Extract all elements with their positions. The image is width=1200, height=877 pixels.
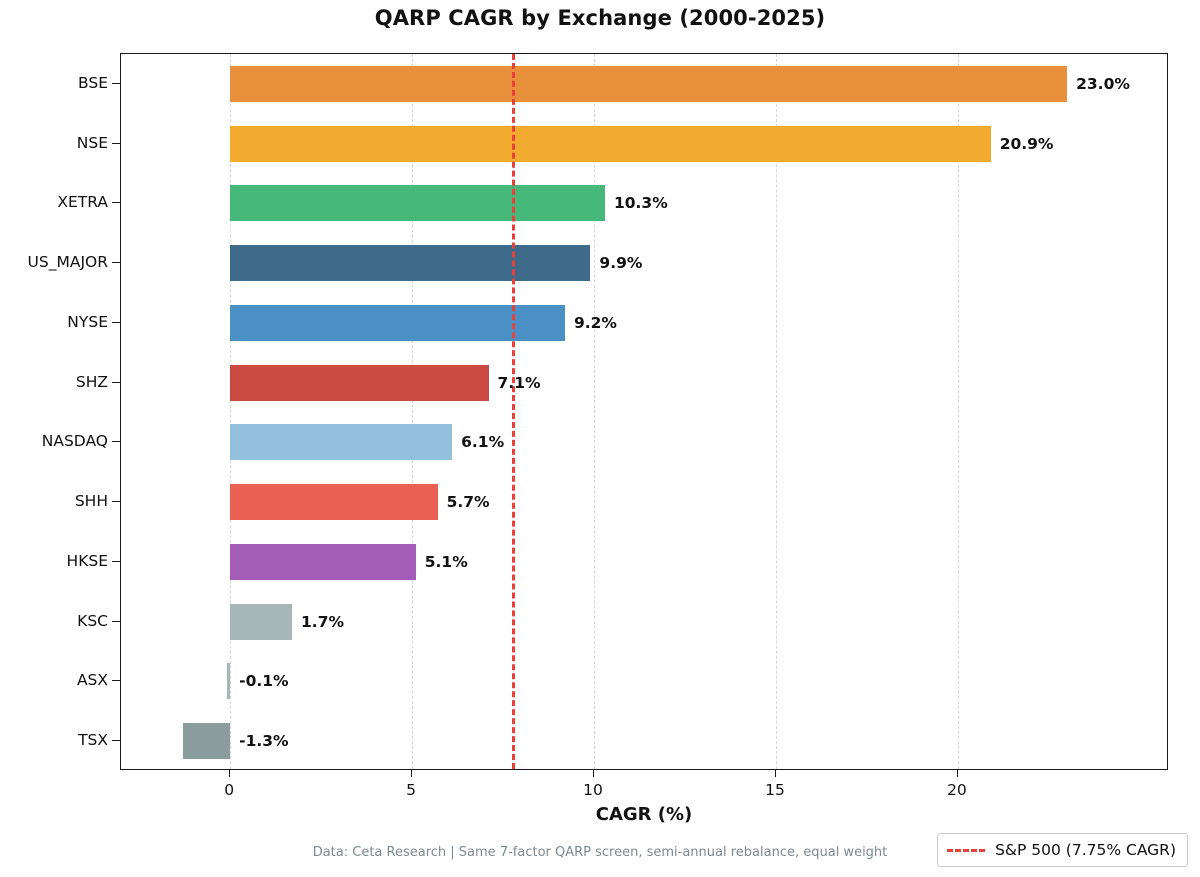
bar[interactable] bbox=[183, 723, 230, 759]
x-tick-mark bbox=[411, 770, 412, 777]
bar-value-label: 1.7% bbox=[301, 613, 344, 631]
bar-value-label: 7.1% bbox=[498, 374, 541, 392]
x-tick-mark bbox=[957, 770, 958, 777]
bar[interactable] bbox=[230, 424, 452, 460]
bar-value-label: 6.1% bbox=[461, 433, 504, 451]
x-tick-label-5: 5 bbox=[406, 781, 416, 799]
x-axis-label: CAGR (%) bbox=[120, 804, 1168, 825]
bar-value-label: 20.9% bbox=[1000, 135, 1054, 153]
bar-value-label: -0.1% bbox=[239, 672, 288, 690]
bar-value-label: 23.0% bbox=[1076, 75, 1130, 93]
x-tick-label-10: 10 bbox=[583, 781, 603, 799]
bar[interactable] bbox=[227, 663, 231, 699]
x-tick-label-20: 20 bbox=[947, 781, 967, 799]
reference-line-sp500 bbox=[512, 54, 515, 769]
bar[interactable] bbox=[230, 66, 1067, 102]
bar[interactable] bbox=[230, 604, 292, 640]
bar[interactable] bbox=[230, 185, 605, 221]
chart-figure: QARP CAGR by Exchange (2000-2025) 23.0%2… bbox=[0, 0, 1200, 877]
bar[interactable] bbox=[230, 544, 416, 580]
bar-value-label: 5.7% bbox=[447, 493, 490, 511]
bar[interactable] bbox=[230, 365, 488, 401]
legend: S&P 500 (7.75% CAGR) bbox=[937, 833, 1188, 867]
bar[interactable] bbox=[230, 126, 991, 162]
legend-dashed-line-swatch bbox=[947, 849, 985, 852]
bar-value-label: 5.1% bbox=[425, 553, 468, 571]
bar[interactable] bbox=[230, 484, 437, 520]
x-tick-mark bbox=[593, 770, 594, 777]
x-tick-label-15: 15 bbox=[765, 781, 785, 799]
bar-value-label: 9.9% bbox=[599, 254, 642, 272]
bar-value-label: 10.3% bbox=[614, 194, 668, 212]
bar-value-label: 9.2% bbox=[574, 314, 617, 332]
x-tick-label-0: 0 bbox=[224, 781, 234, 799]
x-tick-mark bbox=[229, 770, 230, 777]
bar-value-label: -1.3% bbox=[239, 732, 288, 750]
bar[interactable] bbox=[230, 245, 590, 281]
legend-label: S&P 500 (7.75% CAGR) bbox=[995, 841, 1176, 859]
x-tick-mark bbox=[775, 770, 776, 777]
